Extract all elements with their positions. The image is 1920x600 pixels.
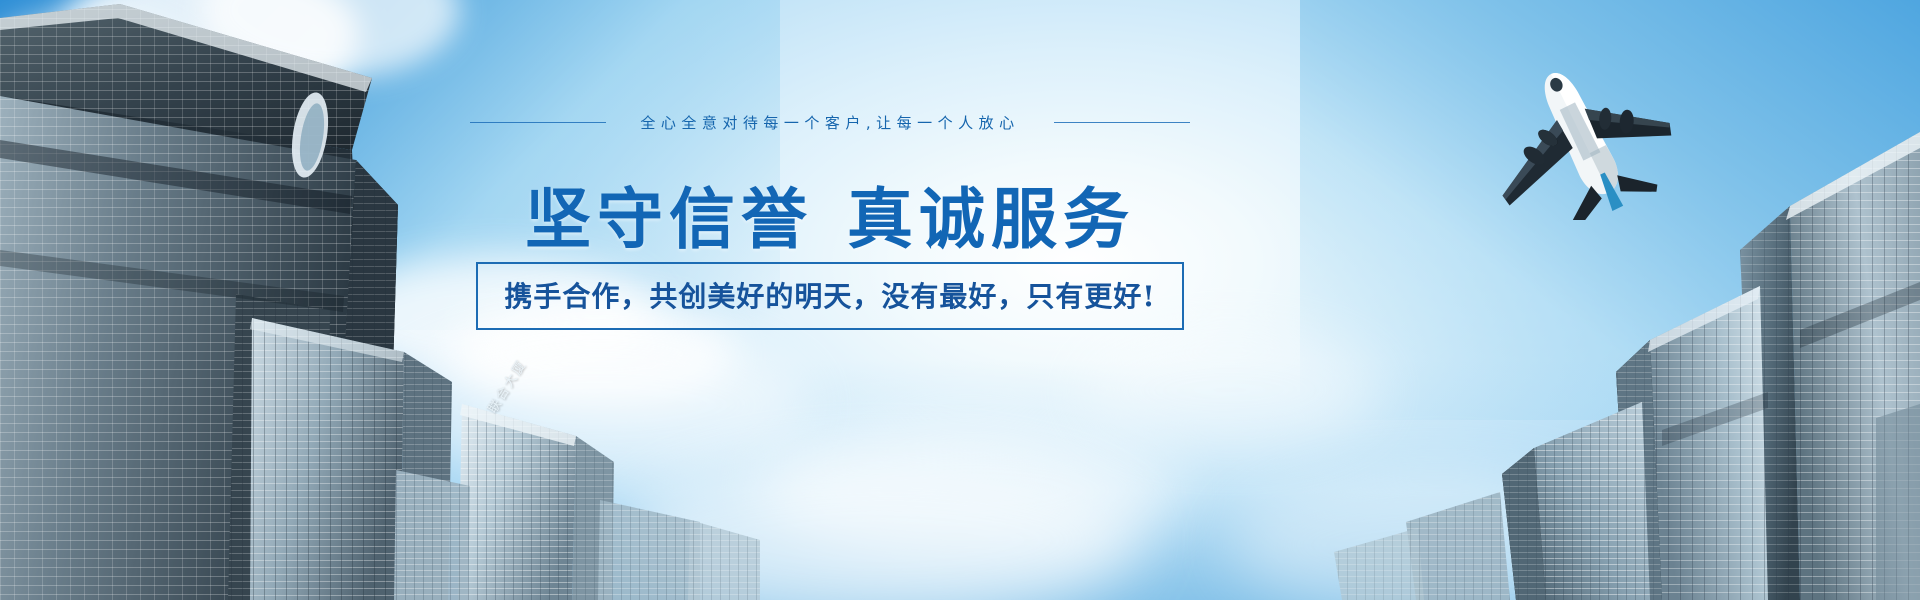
tagline-text: 全心全意对待每一个客户,让每一个人放心 — [640, 112, 1019, 133]
headline: 坚守信誉真诚服务 — [0, 166, 1660, 262]
subtitle-box: 携手合作，共创美好的明天，没有最好，只有更好! — [476, 262, 1183, 330]
hero-banner: 联合大厦 — [0, 0, 1920, 600]
subtitle-wrapper: 携手合作，共创美好的明天，没有最好，只有更好! — [0, 262, 1660, 330]
decorative-rule-right-icon — [1054, 122, 1190, 123]
headline-part-right: 真诚服务 — [847, 180, 1135, 258]
headline-part-left: 坚守信誉 — [525, 180, 813, 258]
tagline-row: 全心全意对待每一个客户,让每一个人放心 — [0, 112, 1660, 133]
decorative-rule-left-icon — [470, 122, 606, 123]
